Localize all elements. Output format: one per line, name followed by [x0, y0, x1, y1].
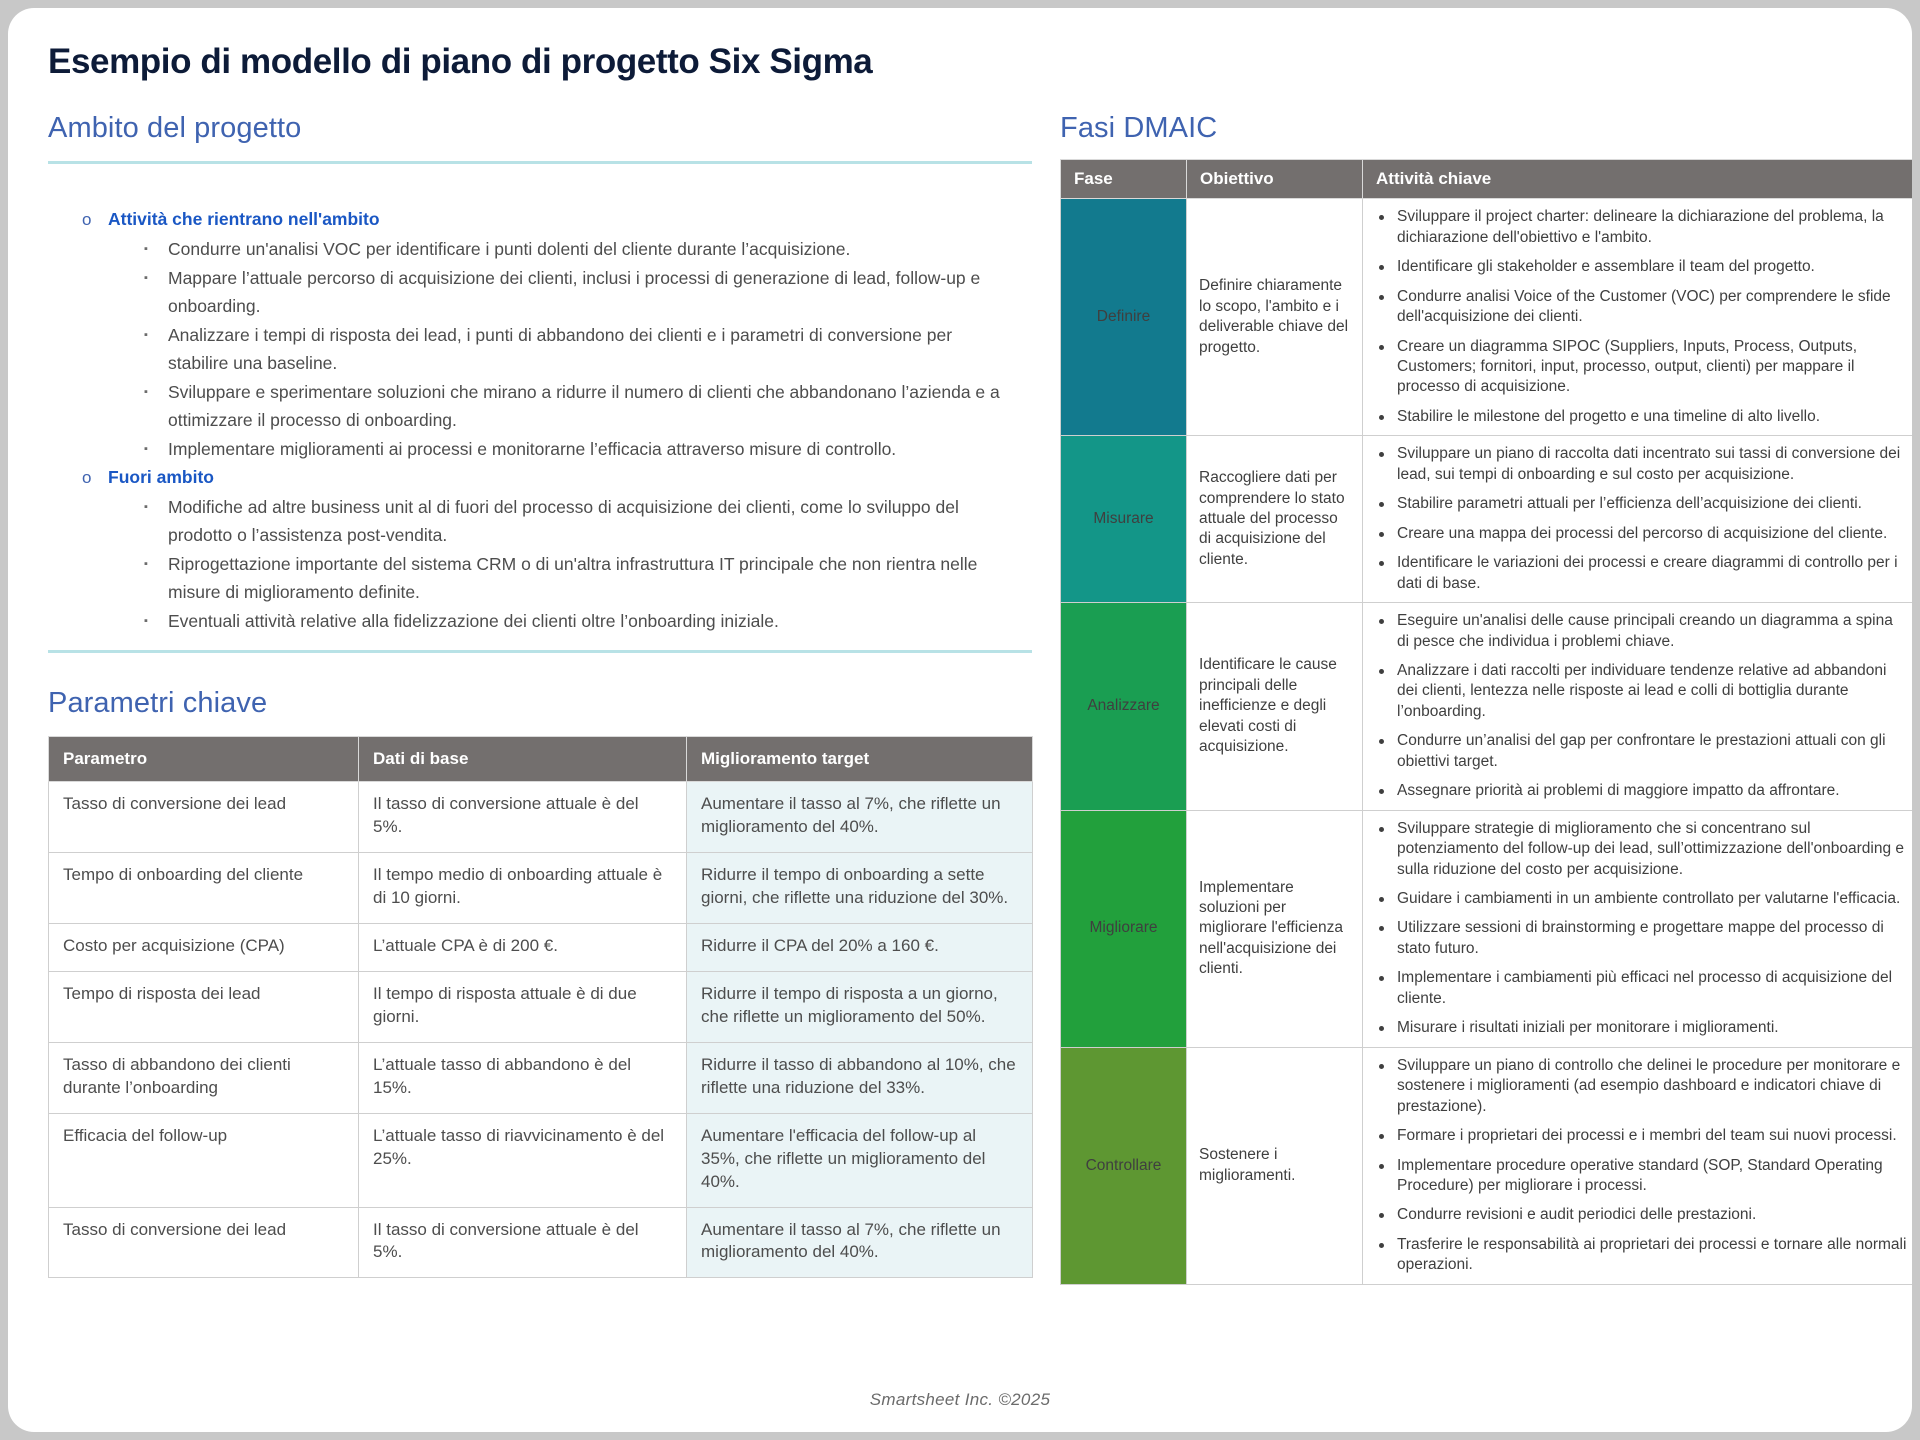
metric-target-cell: Aumentare il tasso al 7%, che riflette u… — [687, 1207, 1033, 1278]
table-row: Tempo di onboarding del clienteIl tempo … — [49, 853, 1033, 924]
dmaic-activity-list: Eseguire un'analisi delle cause principa… — [1369, 611, 1908, 802]
dmaic-table: Fase Obiettivo Attività chiave DefinireD… — [1060, 159, 1912, 1285]
dmaic-body: DefinireDefinire chiaramente lo scopo, l… — [1061, 199, 1913, 1285]
metric-parameter-cell: Tasso di abbandono dei clienti durante l… — [49, 1042, 359, 1113]
scope-group-heading: oFuori ambito — [48, 464, 1032, 491]
list-item: Trasferire le responsabilità ai propriet… — [1395, 1235, 1908, 1276]
dmaic-activity-list: Sviluppare un piano di controllo che del… — [1369, 1056, 1908, 1276]
metric-baseline-cell: L’attuale CPA è di 200 €. — [359, 924, 687, 972]
dmaic-row: AnalizzareIdentificare le cause principa… — [1061, 603, 1913, 811]
list-item: Creare un diagramma SIPOC (Suppliers, In… — [1395, 337, 1908, 398]
square-bullet-icon: ▪ — [144, 235, 168, 263]
content-columns: Ambito del progetto oAttività che rientr… — [48, 112, 1872, 1285]
dmaic-activities-cell: Sviluppare un piano di raccolta dati inc… — [1363, 436, 1913, 603]
circle-bullet-icon: o — [82, 206, 108, 233]
list-item: Stabilire le milestone del progetto e un… — [1395, 407, 1908, 427]
dmaic-goal-cell: Raccogliere dati per comprendere lo stat… — [1187, 436, 1363, 603]
dmaic-phase-cell: Analizzare — [1061, 603, 1187, 811]
list-item: Condurre analisi Voice of the Customer (… — [1395, 287, 1908, 328]
scope-item-text: Riprogettazione importante del sistema C… — [168, 550, 1008, 606]
page-title: Esempio di modello di piano di progetto … — [48, 42, 1872, 82]
list-item: Implementare i cambiamenti più efficaci … — [1395, 968, 1908, 1009]
list-item: Misurare i risultati iniziali per monito… — [1395, 1018, 1908, 1038]
scope-item-text: Analizzare i tempi di risposta dei lead,… — [168, 321, 1008, 377]
dmaic-goal-cell: Sostenere i miglioramenti. — [1187, 1047, 1363, 1284]
square-bullet-icon: ▪ — [144, 264, 168, 320]
metrics-section: Parametri chiave Parametro Dati di base … — [48, 687, 1032, 1278]
dmaic-phase-cell: Definire — [1061, 199, 1187, 436]
scope-item-text: Sviluppare e sperimentare soluzioni che … — [168, 378, 1008, 434]
scope-heading: Ambito del progetto — [48, 112, 1032, 145]
metric-baseline-cell: Il tasso di conversione attuale è del 5%… — [359, 1207, 687, 1278]
metric-target-cell: Ridurre il tasso di abbandono al 10%, ch… — [687, 1042, 1033, 1113]
scope-list-item: ▪Condurre un'analisi VOC per identificar… — [48, 235, 1032, 263]
metric-parameter-cell: Costo per acquisizione (CPA) — [49, 924, 359, 972]
metric-baseline-cell: L’attuale tasso di riavvicinamento è del… — [359, 1113, 687, 1207]
document-page: Esempio di modello di piano di progetto … — [8, 8, 1912, 1432]
scope-list-item: ▪Implementare miglioramenti ai processi … — [48, 435, 1032, 463]
dmaic-row: MisurareRaccogliere dati per comprendere… — [1061, 436, 1913, 603]
table-row: Costo per acquisizione (CPA)L’attuale CP… — [49, 924, 1033, 972]
dmaic-activity-list: Sviluppare il project charter: delineare… — [1369, 207, 1908, 427]
dmaic-phase-cell: Misurare — [1061, 436, 1187, 603]
square-bullet-icon: ▪ — [144, 607, 168, 635]
scope-list-item: ▪Modifiche ad altre business unit al di … — [48, 493, 1032, 549]
dmaic-header-row: Fase Obiettivo Attività chiave — [1061, 160, 1913, 199]
list-item: Analizzare i dati raccolti per individua… — [1395, 661, 1908, 722]
list-item: Sviluppare un piano di raccolta dati inc… — [1395, 444, 1908, 485]
metric-target-cell: Aumentare l'efficacia del follow-up al 3… — [687, 1113, 1033, 1207]
scope-item-text: Mappare l’attuale percorso di acquisizio… — [168, 264, 1008, 320]
scope-group-label: Attività che rientrano nell'ambito — [108, 206, 380, 233]
dmaic-activities-cell: Sviluppare strategie di miglioramento ch… — [1363, 810, 1913, 1047]
circle-bullet-icon: o — [82, 464, 108, 491]
dmaic-activity-list: Sviluppare un piano di raccolta dati inc… — [1369, 444, 1908, 594]
list-item: Stabilire parametri attuali per l’effici… — [1395, 494, 1908, 514]
square-bullet-icon: ▪ — [144, 321, 168, 377]
scope-divider — [48, 161, 1032, 164]
scope-item-text: Modifiche ad altre business unit al di f… — [168, 493, 1008, 549]
square-bullet-icon: ▪ — [144, 550, 168, 606]
list-item: Identificare gli stakeholder e assemblar… — [1395, 257, 1908, 277]
scope-list-item: ▪Eventuali attività relative alla fideli… — [48, 607, 1032, 635]
metrics-col-parameter: Parametro — [49, 737, 359, 782]
page-content: Esempio di modello di piano di progetto … — [8, 8, 1912, 1432]
metric-target-cell: Ridurre il CPA del 20% a 160 €. — [687, 924, 1033, 972]
metric-parameter-cell: Tempo di risposta dei lead — [49, 971, 359, 1042]
metrics-header-row: Parametro Dati di base Miglioramento tar… — [49, 737, 1033, 782]
table-row: Efficacia del follow-upL’attuale tasso d… — [49, 1113, 1033, 1207]
list-item: Sviluppare un piano di controllo che del… — [1395, 1056, 1908, 1117]
list-item: Sviluppare strategie di miglioramento ch… — [1395, 819, 1908, 880]
metrics-col-target: Miglioramento target — [687, 737, 1033, 782]
dmaic-phase-cell: Migliorare — [1061, 810, 1187, 1047]
table-row: Tasso di conversione dei leadIl tasso di… — [49, 782, 1033, 853]
scope-list-item: ▪Riprogettazione importante del sistema … — [48, 550, 1032, 606]
metric-parameter-cell: Efficacia del follow-up — [49, 1113, 359, 1207]
list-item: Sviluppare il project charter: delineare… — [1395, 207, 1908, 248]
scope-group-heading: oAttività che rientrano nell'ambito — [48, 206, 1032, 233]
dmaic-activity-list: Sviluppare strategie di miglioramento ch… — [1369, 819, 1908, 1039]
scope-item-text: Implementare miglioramenti ai processi e… — [168, 435, 896, 463]
list-item: Condurre revisioni e audit periodici del… — [1395, 1205, 1908, 1225]
list-item: Identificare le variazioni dei processi … — [1395, 553, 1908, 594]
metrics-divider — [48, 650, 1032, 653]
square-bullet-icon: ▪ — [144, 435, 168, 463]
dmaic-row: ControllareSostenere i miglioramenti.Svi… — [1061, 1047, 1913, 1284]
list-item: Formare i proprietari dei processi e i m… — [1395, 1126, 1908, 1146]
metric-baseline-cell: Il tasso di conversione attuale è del 5%… — [359, 782, 687, 853]
metric-parameter-cell: Tasso di conversione dei lead — [49, 1207, 359, 1278]
metric-target-cell: Aumentare il tasso al 7%, che riflette u… — [687, 782, 1033, 853]
scope-item-text: Eventuali attività relative alla fideliz… — [168, 607, 779, 635]
scope-list: oAttività che rientrano nell'ambito▪Cond… — [48, 172, 1032, 650]
metric-baseline-cell: Il tempo di risposta attuale è di due gi… — [359, 971, 687, 1042]
list-item: Implementare procedure operative standar… — [1395, 1156, 1908, 1197]
metric-parameter-cell: Tasso di conversione dei lead — [49, 782, 359, 853]
metric-baseline-cell: L’attuale tasso di abbandono è del 15%. — [359, 1042, 687, 1113]
metric-target-cell: Ridurre il tempo di onboarding a sette g… — [687, 853, 1033, 924]
list-item: Utilizzare sessioni di brainstorming e p… — [1395, 918, 1908, 959]
metric-parameter-cell: Tempo di onboarding del cliente — [49, 853, 359, 924]
footer-copyright: Smartsheet Inc. ©2025 — [8, 1390, 1912, 1410]
right-column: Fasi DMAIC Fase Obiettivo Attività chiav… — [1060, 112, 1912, 1285]
dmaic-col-activities: Attività chiave — [1363, 160, 1913, 199]
scope-group-label: Fuori ambito — [108, 464, 214, 491]
table-row: Tasso di conversione dei leadIl tasso di… — [49, 1207, 1033, 1278]
metric-target-cell: Ridurre il tempo di risposta a un giorno… — [687, 971, 1033, 1042]
list-item: Creare una mappa dei processi del percor… — [1395, 524, 1908, 544]
metrics-heading: Parametri chiave — [48, 687, 1032, 720]
metrics-body: Tasso di conversione dei leadIl tasso di… — [49, 782, 1033, 1278]
list-item: Condurre un’analisi del gap per confront… — [1395, 731, 1908, 772]
dmaic-col-goal: Obiettivo — [1187, 160, 1363, 199]
square-bullet-icon: ▪ — [144, 493, 168, 549]
key-metrics-table: Parametro Dati di base Miglioramento tar… — [48, 736, 1033, 1278]
list-item: Assegnare priorità ai problemi di maggio… — [1395, 781, 1908, 801]
list-item: Eseguire un'analisi delle cause principa… — [1395, 611, 1908, 652]
scope-item-text: Condurre un'analisi VOC per identificare… — [168, 235, 850, 263]
scope-list-item: ▪Analizzare i tempi di risposta dei lead… — [48, 321, 1032, 377]
dmaic-activities-cell: Sviluppare il project charter: delineare… — [1363, 199, 1913, 436]
dmaic-activities-cell: Sviluppare un piano di controllo che del… — [1363, 1047, 1913, 1284]
dmaic-goal-cell: Definire chiaramente lo scopo, l'ambito … — [1187, 199, 1363, 436]
dmaic-col-phase: Fase — [1061, 160, 1187, 199]
scope-list-item: ▪Sviluppare e sperimentare soluzioni che… — [48, 378, 1032, 434]
square-bullet-icon: ▪ — [144, 378, 168, 434]
table-row: Tasso di abbandono dei clienti durante l… — [49, 1042, 1033, 1113]
left-column: Ambito del progetto oAttività che rientr… — [48, 112, 1032, 1278]
dmaic-phase-cell: Controllare — [1061, 1047, 1187, 1284]
dmaic-row: DefinireDefinire chiaramente lo scopo, l… — [1061, 199, 1913, 436]
table-row: Tempo di risposta dei leadIl tempo di ri… — [49, 971, 1033, 1042]
metrics-col-baseline: Dati di base — [359, 737, 687, 782]
scope-list-item: ▪Mappare l’attuale percorso di acquisizi… — [48, 264, 1032, 320]
dmaic-goal-cell: Implementare soluzioni per migliorare l'… — [1187, 810, 1363, 1047]
metric-baseline-cell: Il tempo medio di onboarding attuale è d… — [359, 853, 687, 924]
list-item: Guidare i cambiamenti in un ambiente con… — [1395, 889, 1908, 909]
dmaic-activities-cell: Eseguire un'analisi delle cause principa… — [1363, 603, 1913, 811]
dmaic-heading: Fasi DMAIC — [1060, 112, 1912, 145]
dmaic-goal-cell: Identificare le cause principali delle i… — [1187, 603, 1363, 811]
dmaic-row: MigliorareImplementare soluzioni per mig… — [1061, 810, 1913, 1047]
